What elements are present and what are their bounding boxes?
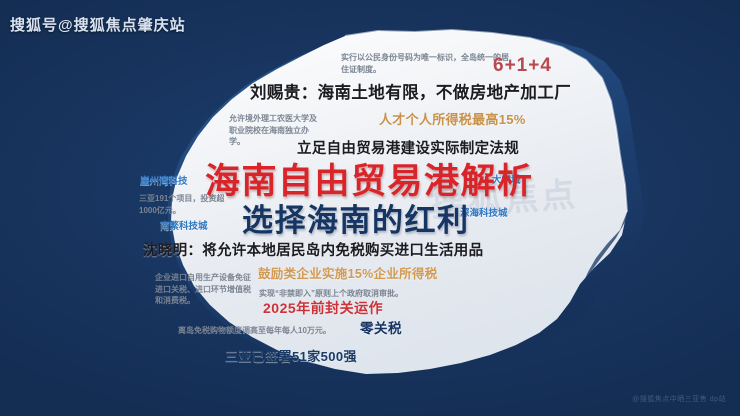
zone-tag-nanfan: 南繁科技城: [160, 222, 208, 233]
callout-six-one-four: 6+1+4: [493, 55, 552, 77]
callout-enterprise-tax: 鼓励类企业实施15%企业所得税: [258, 267, 438, 281]
note-import-equipment: 企业进口自用生产设备免征进口关税、进口环节增值税和消费税。: [155, 272, 253, 307]
callout-sanya-500: 三亚已签署51家500强: [225, 350, 357, 365]
note-negative-list: 实现“非禁即入”原则上个政府取消审批。: [259, 288, 459, 300]
headline-shen: 沈晓明：将允许本地居民岛内免税购买进口生活用品: [143, 243, 483, 260]
watermark-top-left: 搜狐号@搜狐焦点肇庆站: [10, 14, 186, 35]
note-id-system: 实行以公民身份号码为唯一标识，全岛统一的居住证制度。: [341, 52, 516, 75]
main-title: 海南自由贸易港解析: [205, 162, 534, 202]
callout-talent-tax: 人才个人所得税最高15%: [379, 113, 526, 128]
watermark-bottom-right: @搜狐焦点中晒三亚售 dp站: [632, 394, 726, 404]
headline-liu: 刘赐贵：海南土地有限，不做房地产加工厂: [250, 84, 571, 103]
headline-regulation: 立足自由贸易港建设实际制定法规: [297, 141, 519, 158]
text-layer: 实行以公民身份号码为唯一标识，全岛统一的居住证制度。 6+1+4 刘赐贵：海南土…: [0, 0, 740, 416]
callout-zero-tariff: 零关税: [360, 321, 402, 337]
poster-canvas: 搜狐焦点 实行以公民身份号码为唯一标识，全岛统一的居住证制度。 6+1+4 刘赐…: [0, 0, 740, 416]
zone-tag-yazhou: 崖州湾科技: [140, 177, 188, 188]
note-duty-free-quota: 离岛免税购物额度调高至每年每人10万元。: [178, 325, 331, 337]
callout-closure-2025: 2025年前封关运作: [263, 300, 383, 316]
sub-title: 选择海南的红利: [242, 203, 470, 239]
